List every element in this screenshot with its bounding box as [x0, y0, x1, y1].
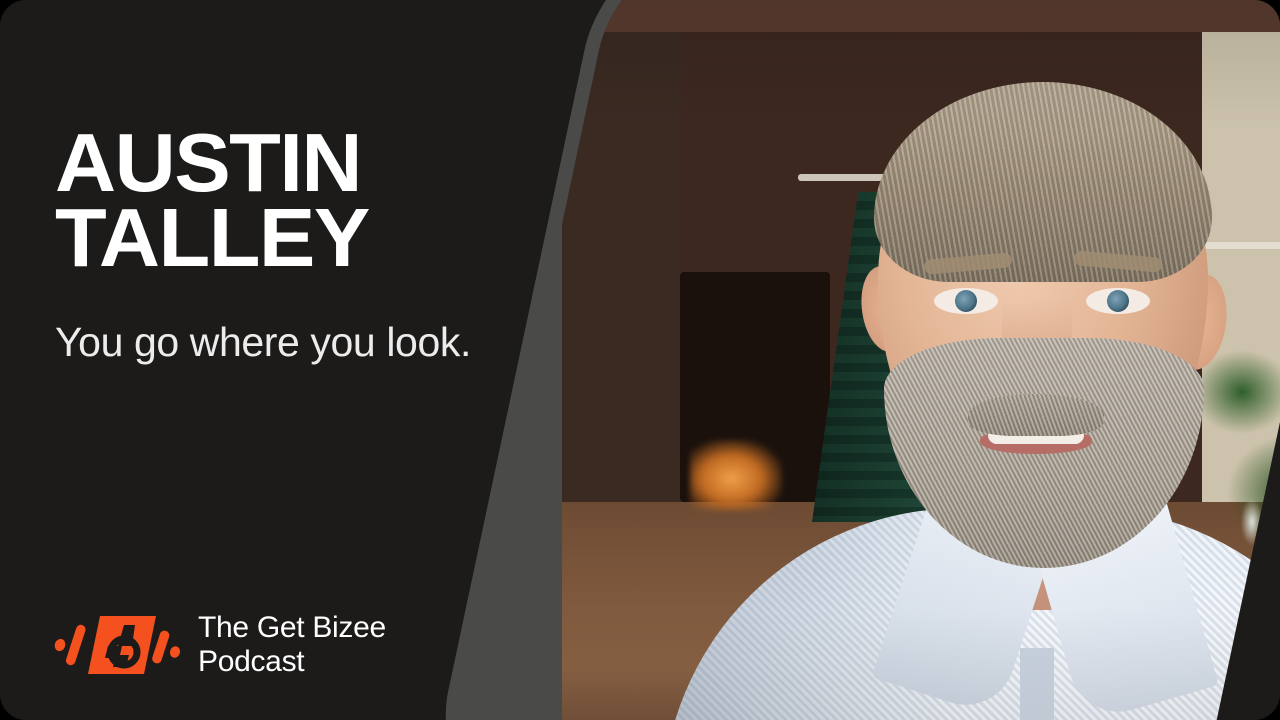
cover-text-column: AUSTIN TALLEY You go where you look. The… — [0, 0, 620, 720]
bizee-b-speed-mark-icon — [52, 608, 182, 682]
subject-shirt-placket — [1020, 648, 1054, 720]
guest-photo — [562, 0, 1280, 720]
subject-iris-left — [955, 290, 977, 312]
subject-mustache — [968, 394, 1104, 436]
photo-background-scene — [562, 0, 1280, 720]
subject-iris-right — [1107, 290, 1129, 312]
brand-name: The Get Bizee Podcast — [198, 611, 386, 680]
brand-lockup: The Get Bizee Podcast — [52, 608, 386, 682]
photo-subject — [702, 38, 1280, 720]
podcast-cover-canvas: AUSTIN TALLEY You go where you look. The… — [0, 0, 1280, 720]
subject-eye-left — [934, 288, 998, 314]
episode-quote: You go where you look. — [55, 316, 485, 369]
subject-hair — [874, 82, 1212, 282]
guest-name: AUSTIN TALLEY — [55, 126, 585, 275]
subject-eye-right — [1086, 288, 1150, 314]
